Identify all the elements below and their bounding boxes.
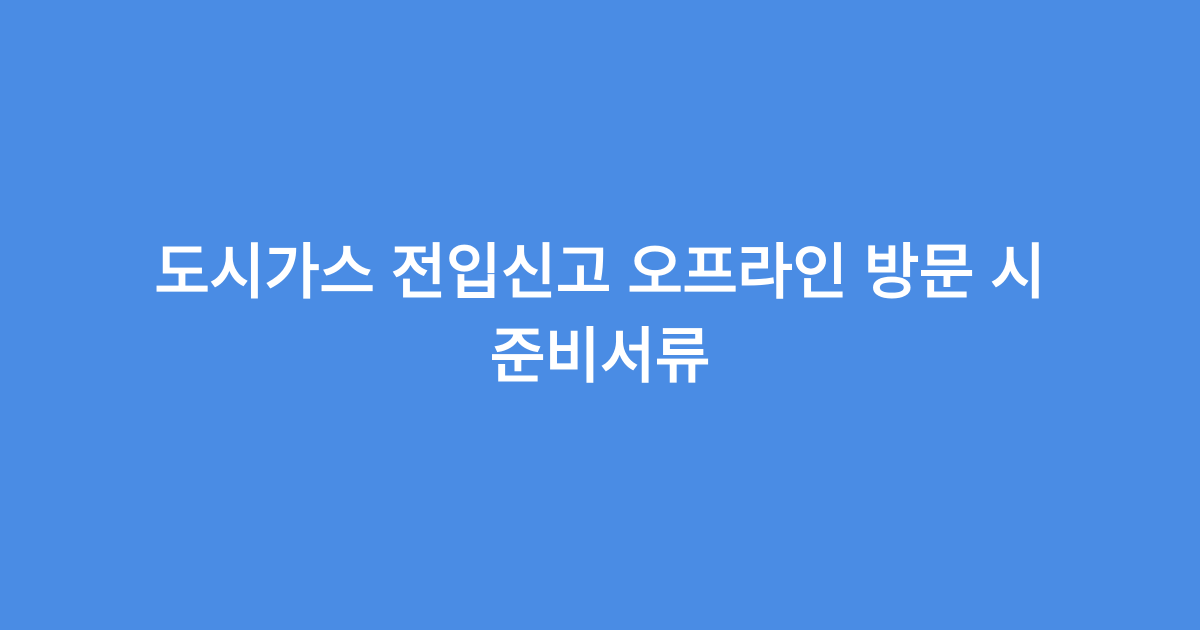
share-card: 도시가스 전입신고 오프라인 방문 시 준비서류 bbox=[0, 0, 1200, 630]
card-title: 도시가스 전입신고 오프라인 방문 시 준비서류 bbox=[80, 231, 1120, 399]
card-content: 도시가스 전입신고 오프라인 방문 시 준비서류 bbox=[80, 231, 1120, 399]
